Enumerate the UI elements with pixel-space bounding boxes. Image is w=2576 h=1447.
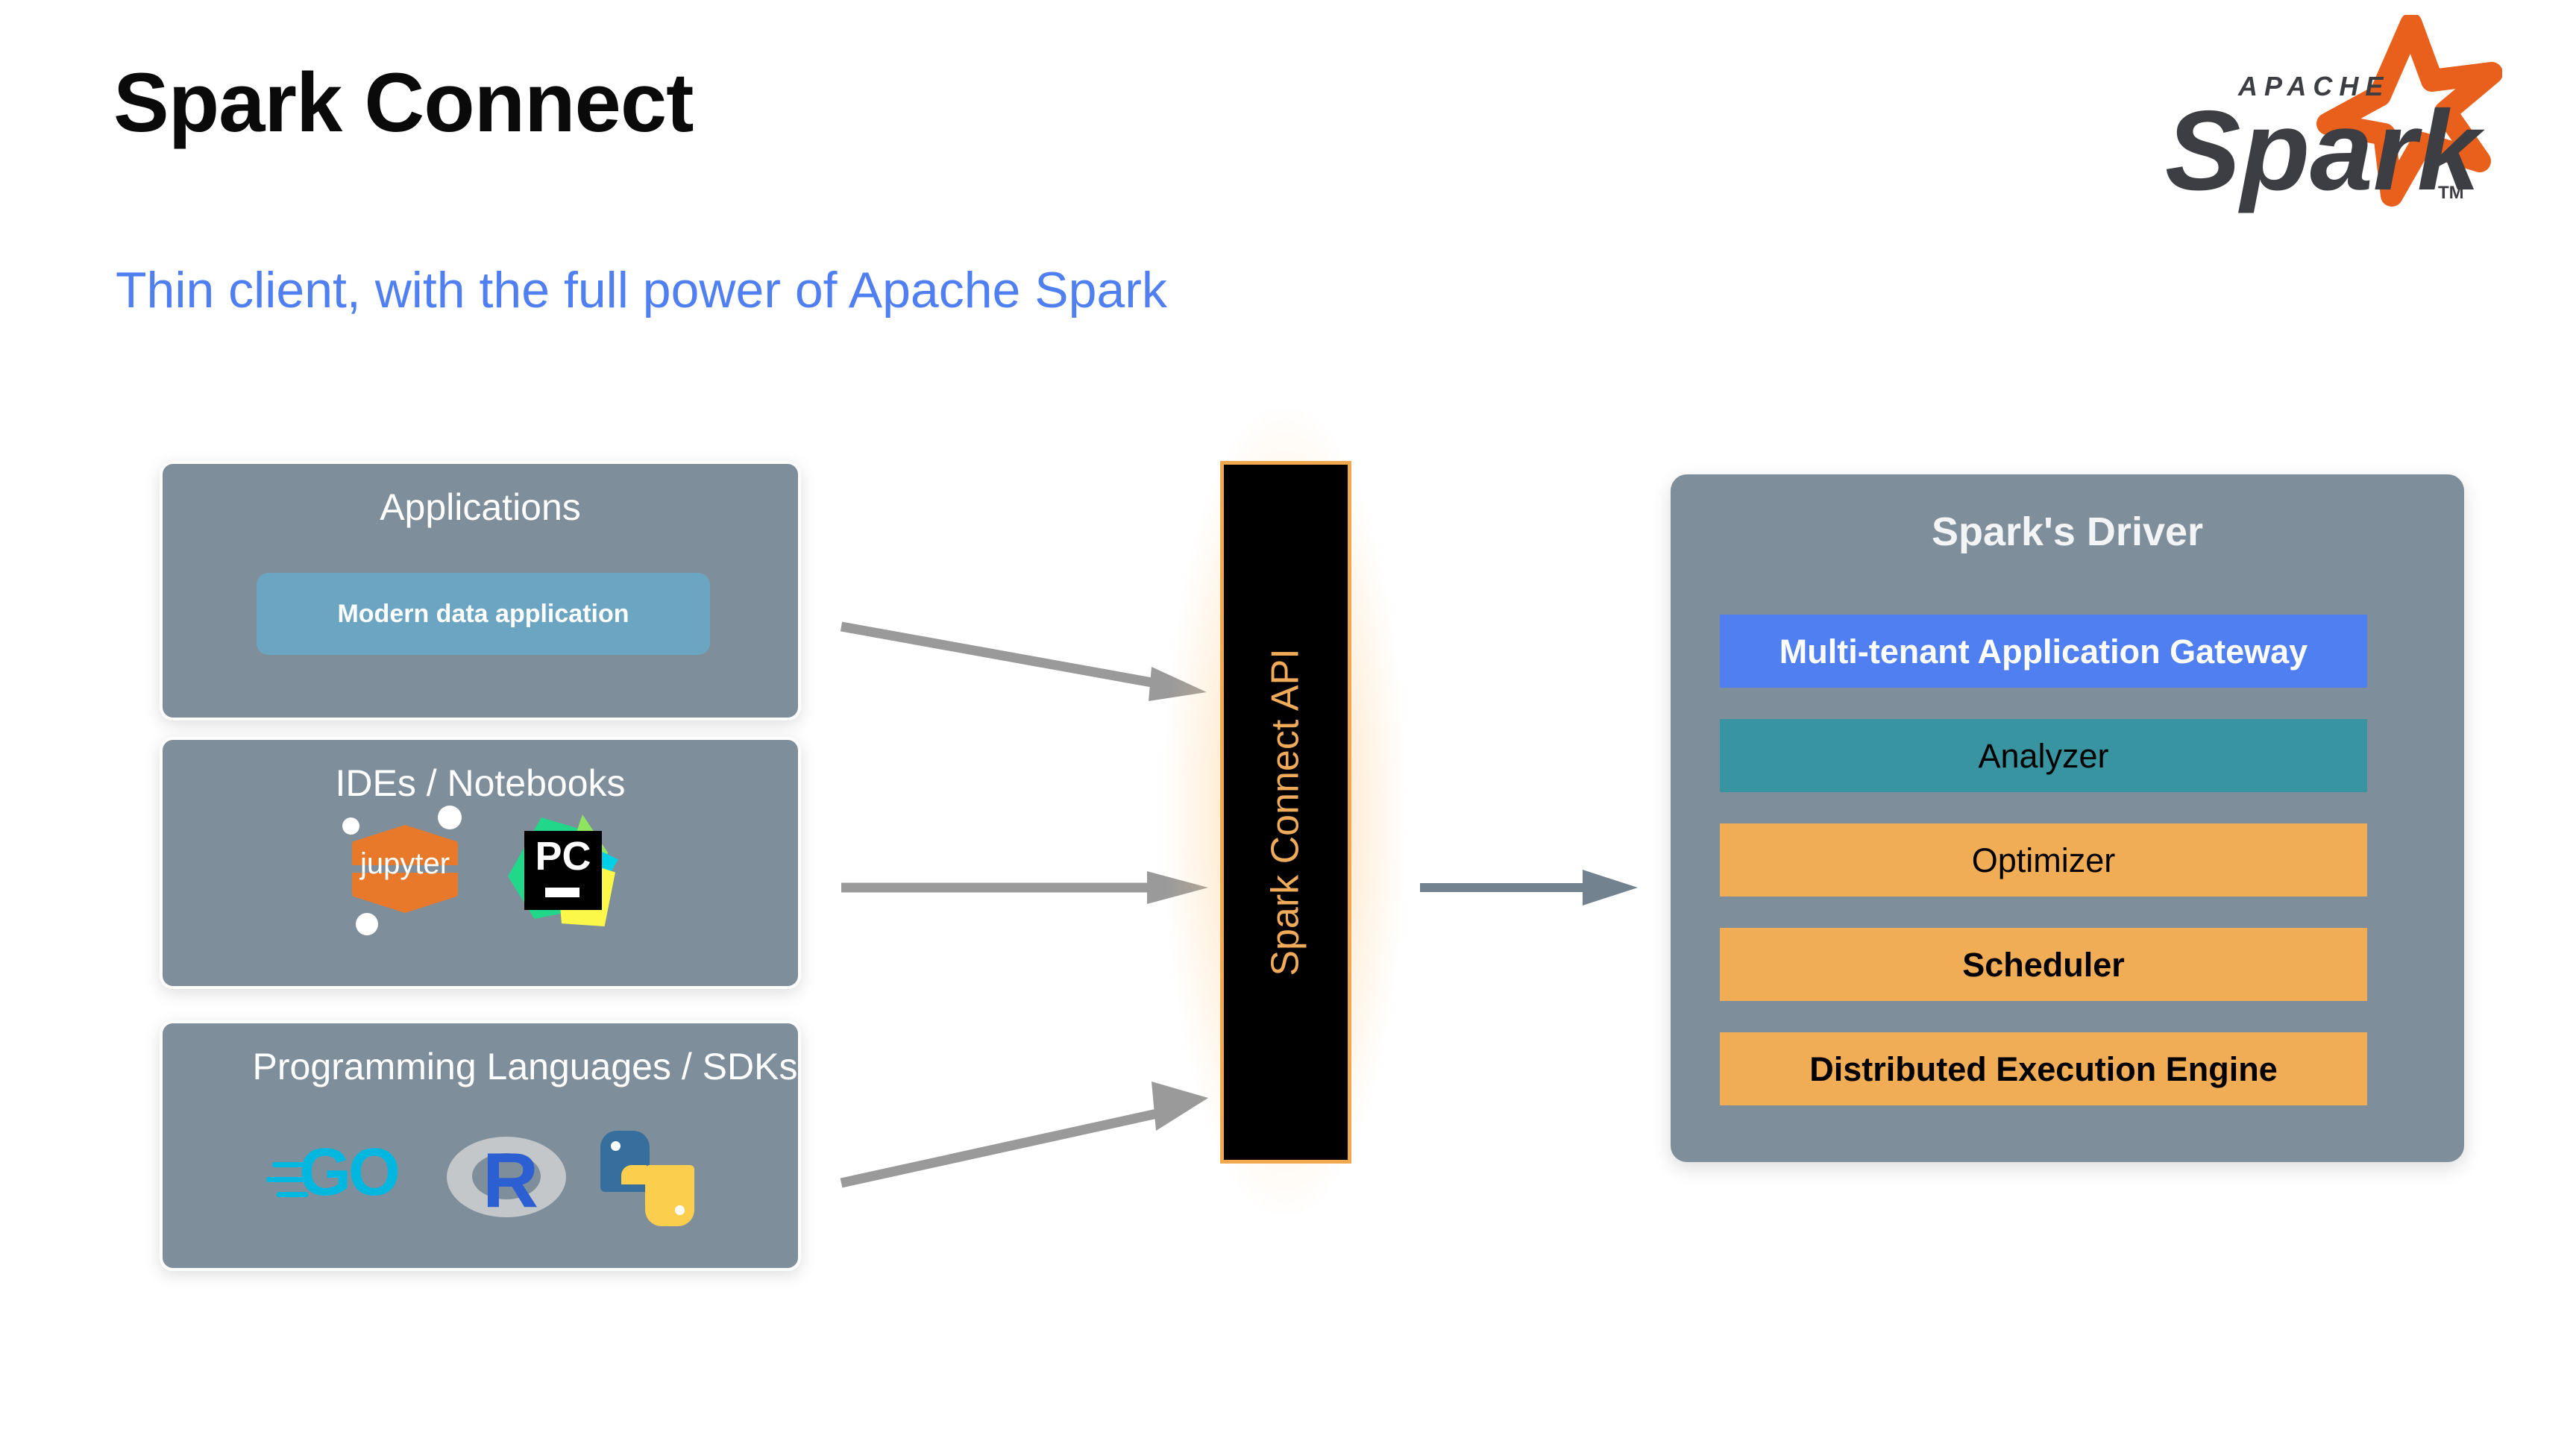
arrow-applications-to-api xyxy=(835,604,1238,738)
jupyter-dot-icon xyxy=(438,806,462,829)
modern-data-application-chip[interactable]: Modern data application xyxy=(257,573,710,655)
client-tier-applications[interactable]: Applications Modern data application xyxy=(160,461,801,721)
driver-row-label: Scheduler xyxy=(1962,948,2125,982)
jupyter-wordmark: jupyter xyxy=(342,847,468,881)
jupyter-dot-icon xyxy=(342,817,359,835)
python-eye-icon xyxy=(611,1141,621,1151)
driver-row-list: Multi-tenant Application Gateway Analyze… xyxy=(1720,615,2367,1137)
jupyter-logo: jupyter xyxy=(342,804,468,934)
r-letter: R xyxy=(483,1138,566,1223)
r-logo: R xyxy=(447,1131,566,1226)
jupyter-dot-icon xyxy=(356,913,378,935)
page-title: Spark Connect xyxy=(113,61,693,145)
arrow-api-to-driver xyxy=(1417,858,1656,947)
go-logo: GO xyxy=(266,1137,412,1220)
driver-row-optimizer[interactable]: Optimizer xyxy=(1720,823,2367,897)
go-wordmark: GO xyxy=(299,1137,412,1209)
python-eye-icon xyxy=(675,1205,685,1215)
page-subtitle: Thin client, with the full power of Apac… xyxy=(116,265,1167,316)
language-logo-row: GO R xyxy=(160,1131,801,1226)
pycharm-letters: PC xyxy=(524,835,602,878)
pycharm-logo: PC xyxy=(506,810,618,928)
driver-row-label: Optimizer xyxy=(1972,844,2116,877)
driver-row-distributed-execution-engine[interactable]: Distributed Execution Engine xyxy=(1720,1032,2367,1105)
python-yellow-snake xyxy=(645,1165,694,1226)
tier-title: IDEs / Notebooks xyxy=(163,762,798,805)
driver-row-multi-tenant-application-gateway[interactable]: Multi-tenant Application Gateway xyxy=(1720,615,2367,688)
tier-title: Applications xyxy=(163,486,798,529)
api-bar-label: Spark Connect API xyxy=(1263,648,1308,976)
driver-row-label: Analyzer xyxy=(1978,739,2108,773)
pycharm-underscore-icon xyxy=(545,888,579,897)
logo-spark-word: Spark xyxy=(2165,87,2485,214)
chip-label: Modern data application xyxy=(337,600,629,629)
arrow-languages-to-api xyxy=(835,1044,1238,1216)
apache-spark-logo: APACHE Spark TM xyxy=(2129,15,2502,216)
driver-row-label: Distributed Execution Engine xyxy=(1809,1052,2278,1086)
driver-row-analyzer[interactable]: Analyzer xyxy=(1720,719,2367,792)
driver-row-scheduler[interactable]: Scheduler xyxy=(1720,928,2367,1001)
ide-logo-row: jupyter PC xyxy=(160,804,801,934)
python-logo xyxy=(600,1131,694,1226)
driver-title: Spark's Driver xyxy=(1671,512,2464,552)
driver-row-label: Multi-tenant Application Gateway xyxy=(1779,635,2308,668)
spark-driver-panel[interactable]: Spark's Driver Multi-tenant Application … xyxy=(1671,474,2464,1162)
spark-connect-api-bar[interactable]: Spark Connect API xyxy=(1220,461,1351,1164)
arrow-ides-to-api xyxy=(835,858,1238,947)
logo-tm-mark: TM xyxy=(2438,183,2464,203)
tier-title: Programming Languages / SDKs xyxy=(163,1046,888,1088)
